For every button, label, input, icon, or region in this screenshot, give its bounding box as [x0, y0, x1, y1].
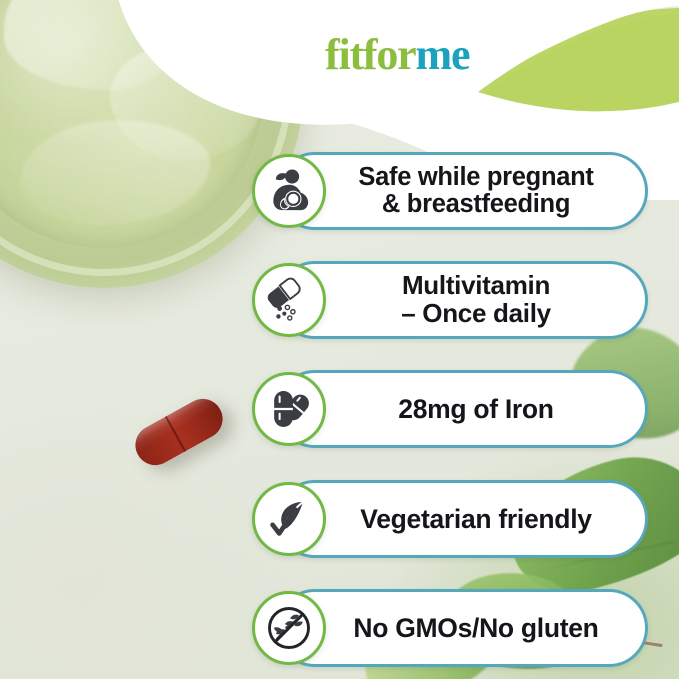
- feature-pill: 28mg of Iron: [276, 370, 648, 448]
- brand-logo-primary: fitfor: [325, 30, 416, 79]
- feature-row-iron-content: 28mg of Iron: [252, 370, 648, 448]
- product-feature-card: fitforme Safe while pregnant & breastfee…: [0, 0, 679, 679]
- brand-logo: fitforme: [325, 33, 469, 77]
- feature-label: Multivitamin – Once daily: [279, 272, 645, 327]
- feature-list: Safe while pregnant & breastfeeding: [0, 0, 679, 679]
- no-gmo-wheat-crossed-icon: [252, 591, 326, 665]
- feature-pill: Vegetarian friendly: [276, 480, 648, 558]
- feature-label: No GMOs/No gluten: [279, 614, 645, 642]
- leaf-checkmark-icon: [252, 482, 326, 556]
- feature-row-pregnancy-safe: Safe while pregnant & breastfeeding: [252, 152, 648, 230]
- brand-logo-secondary: me: [416, 30, 470, 79]
- feature-pill: Safe while pregnant & breastfeeding: [276, 152, 648, 230]
- feature-label: 28mg of Iron: [279, 395, 645, 423]
- open-capsule-granules-icon: [252, 263, 326, 337]
- feature-row-multivitamin: Multivitamin – Once daily: [252, 261, 648, 339]
- feature-row-no-gmo-gluten: No GMOs/No gluten: [252, 589, 648, 667]
- feature-pill: No GMOs/No gluten: [276, 589, 648, 667]
- two-capsules-icon: [252, 372, 326, 446]
- feature-label: Safe while pregnant & breastfeeding: [279, 164, 645, 218]
- feature-pill: Multivitamin – Once daily: [276, 261, 648, 339]
- feature-label: Vegetarian friendly: [279, 505, 645, 533]
- breastfeeding-mother-icon: [252, 154, 326, 228]
- feature-row-vegetarian: Vegetarian friendly: [252, 480, 648, 558]
